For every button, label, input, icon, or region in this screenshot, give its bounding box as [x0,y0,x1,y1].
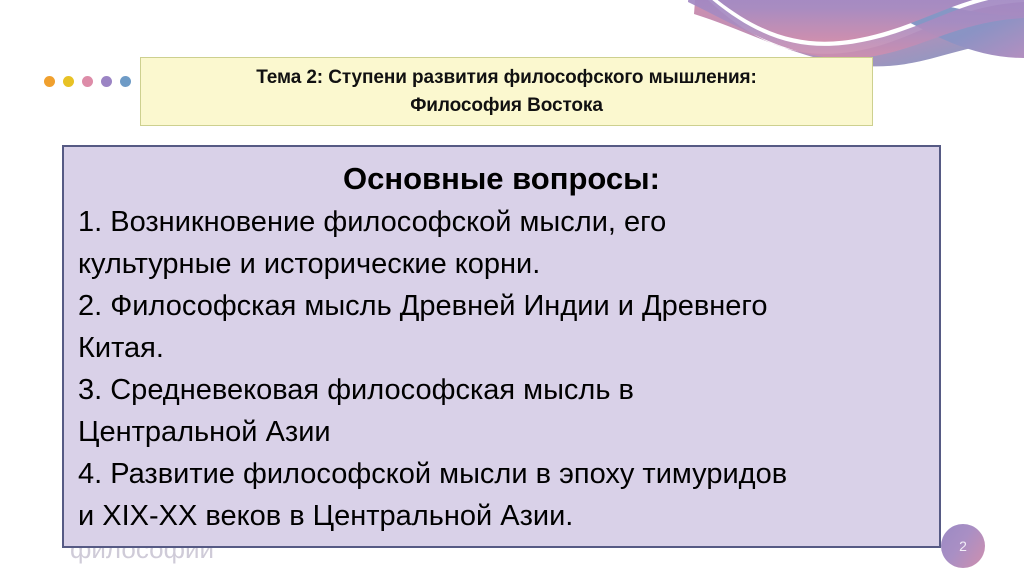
main-content-box: Основные вопросы: 1. Возникновение филос… [62,145,941,548]
slide-title-banner: Тема 2: Ступени развития философского мы… [140,57,873,126]
dot-gold-icon [63,76,74,87]
questions-heading: Основные вопросы: [78,159,925,199]
question-line: Китая. [78,327,925,369]
slide-canvas: Тема 2: Ступени развития философского мы… [0,0,1024,574]
question-line: 1. Возникновение философской мысли, его [78,201,925,243]
question-line: 4. Развитие философской мысли в эпоху ти… [78,453,925,495]
slide-title-line-1: Тема 2: Ступени развития философского мы… [256,64,757,92]
question-line: 3. Средневековая философская мысль в [78,369,925,411]
question-line: культурные и исторические корни. [78,243,925,285]
dot-orange-icon [44,76,55,87]
dot-purple-icon [101,76,112,87]
question-line: и XIX-XX веков в Центральной Азии. [78,495,925,537]
slide-title-line-2: Философия Востока [410,92,603,120]
question-line: Центральной Азии [78,411,925,453]
decorative-dot-row [44,76,131,87]
page-number-label: 2 [959,538,967,554]
page-number-badge: 2 [941,524,985,568]
question-line: 2. Философская мысль Древней Индии и Дре… [78,285,925,327]
dot-blue-icon [120,76,131,87]
dot-pink-icon [82,76,93,87]
